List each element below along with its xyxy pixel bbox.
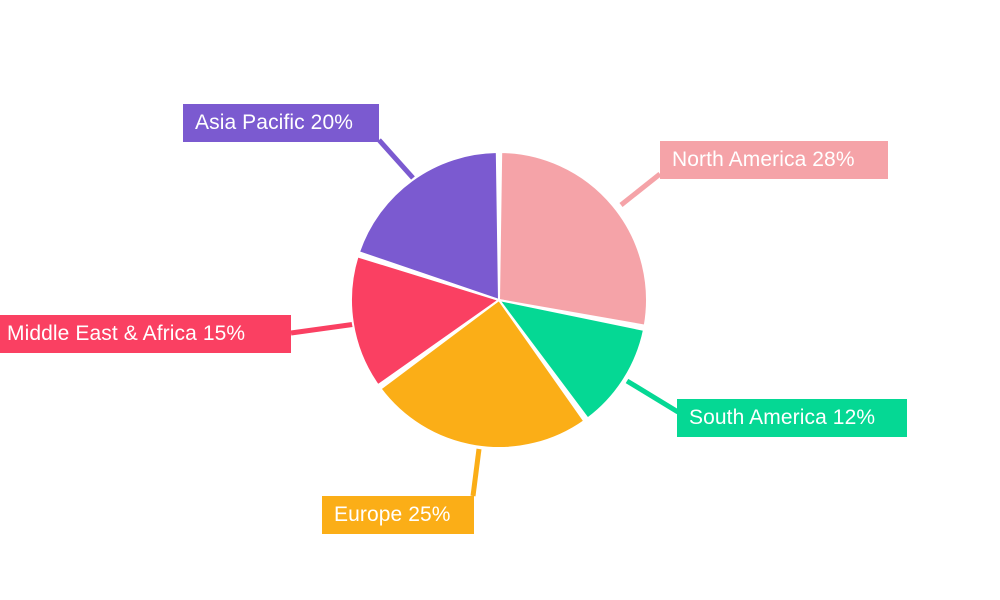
pie-slice-label-text: South America 12% bbox=[689, 407, 875, 428]
pie-slice-label-text: North America 28% bbox=[672, 149, 855, 170]
pie-slice-group bbox=[351, 152, 647, 448]
leader-line bbox=[621, 174, 660, 205]
pie-slice-label: Middle East & Africa 15% bbox=[0, 315, 291, 353]
pie-slice[interactable] bbox=[499, 152, 647, 326]
pie-slice-label: South America 12% bbox=[677, 399, 907, 437]
leader-line bbox=[379, 140, 413, 178]
pie-slice-label-text: Middle East & Africa 15% bbox=[7, 323, 245, 344]
pie-slice-label-text: Europe 25% bbox=[334, 504, 451, 525]
pie-slice-label: North America 28% bbox=[660, 141, 888, 179]
pie-chart-figure: North America 28%South America 12%Europe… bbox=[0, 0, 1000, 600]
leader-line bbox=[473, 449, 479, 496]
pie-chart-canvas bbox=[0, 0, 1000, 600]
leader-line bbox=[627, 381, 678, 412]
pie-slice-label: Europe 25% bbox=[322, 496, 474, 534]
pie-slice-label-text: Asia Pacific 20% bbox=[195, 112, 353, 133]
leader-line bbox=[291, 324, 356, 333]
pie-slice-label: Asia Pacific 20% bbox=[183, 104, 379, 142]
